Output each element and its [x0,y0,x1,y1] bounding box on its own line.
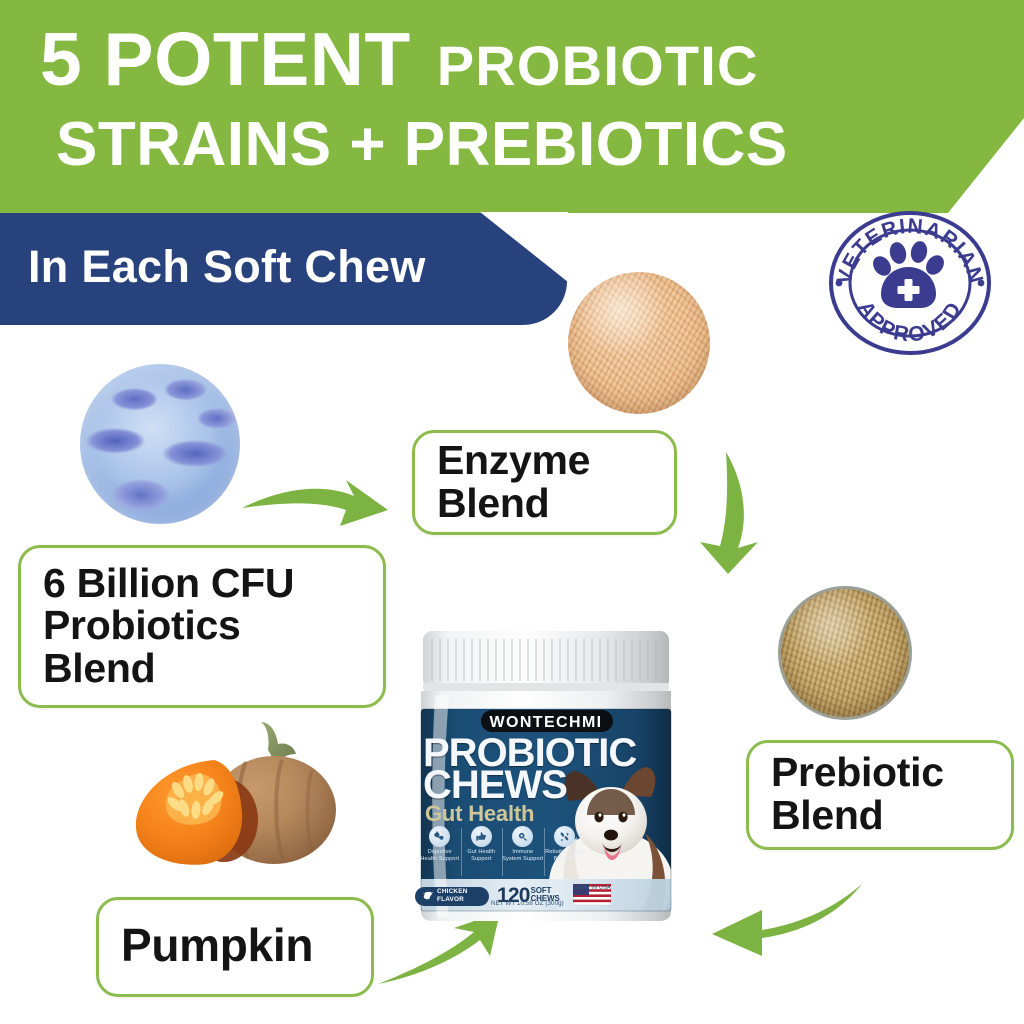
callout-label: 6 Billion CFU Probiotics Blend [43,562,294,690]
seal-dot-right [978,280,985,287]
sub-banner-text: In Each Soft Chew [28,240,426,294]
callout-enzyme-blend[interactable]: Enzyme Blend [412,430,677,535]
veterinarian-approved-seal: VETERINARIAN APPROVED [826,207,994,352]
callout-label: Pumpkin [121,922,313,970]
rebuilds-bacteria-icon [554,826,575,847]
benefit-label: Rebuilds Good Bacteria [544,849,586,863]
benefit-gut-health: Gut Health Support [461,825,503,880]
benefit-digestive-health: Digestive Health Support [419,825,461,880]
product-jar: WONTECHMI PROBIOTIC CHEWS Gut Health Dig… [405,625,687,925]
flavor-badge: CHICKEN FLAVOR [415,887,489,906]
headline-light-text: PROBIOTIC [437,38,759,94]
headline-strong-text: 5 POTENT [40,22,411,97]
callout-label: Prebiotic Blend [771,751,944,836]
seal-svg: VETERINARIAN APPROVED [826,207,994,357]
digestive-gear-icon [429,826,450,847]
product-subtitle: Gut Health [425,801,534,827]
callout-label: Enzyme Blend [437,439,590,524]
callout-probiotics-blend[interactable]: 6 Billion CFU Probiotics Blend [18,545,386,708]
arrow-prebiotic-to-jar-icon [700,876,868,962]
flavor-label: CHICKEN FLAVOR [437,888,468,903]
callout-pumpkin[interactable]: Pumpkin [96,897,374,997]
arrow-enzyme-to-prebiotic-icon [684,446,784,578]
product-brand: WONTECHMI [405,714,687,732]
paw-with-cross-icon [869,240,947,308]
immune-shield-icon [512,826,533,847]
net-weight-text: NET WT 10.58 OZ (300g) [491,900,564,907]
pumpkin-svg [118,716,346,876]
arrow-bacteria-to-enzyme-icon [234,464,394,542]
product-title-line-2: CHEWS [423,765,567,805]
headline-line-2: STRAINS + PREBIOTICS [56,114,1000,194]
gut-thumbs-up-icon [471,826,492,847]
label-benefit-icons: Digestive Health Support Gut Health Supp… [419,825,585,880]
made-in-usa-text: MADE IN USA [573,885,611,891]
navy-sub-banner: In Each Soft Chew [0,213,567,325]
seal-dot-left [836,280,843,287]
green-header-banner: 5 POTENT PROBIOTIC STRAINS + PREBIOTICS [0,0,1024,213]
benefit-label: Gut Health Support [461,849,503,863]
probiotic-bacteria-photo [80,364,240,524]
headline-line-1: 5 POTENT PROBIOTIC [40,22,984,106]
prebiotic-powder-photo [778,586,912,720]
benefit-label: Digestive Health Support [419,849,461,863]
benefit-rebuilds-bacteria: Rebuilds Good Bacteria [544,825,586,880]
benefit-label: Immune System Support [502,849,544,863]
made-in-usa-block: MADE IN USA [569,883,615,891]
pumpkin-photo [118,716,346,876]
enzyme-powder-photo [568,272,710,414]
callout-prebiotic-blend[interactable]: Prebiotic Blend [746,740,1014,850]
chicken-icon [420,890,434,902]
lid-ribs [431,639,657,681]
benefit-immune-system: Immune System Support [502,825,544,880]
